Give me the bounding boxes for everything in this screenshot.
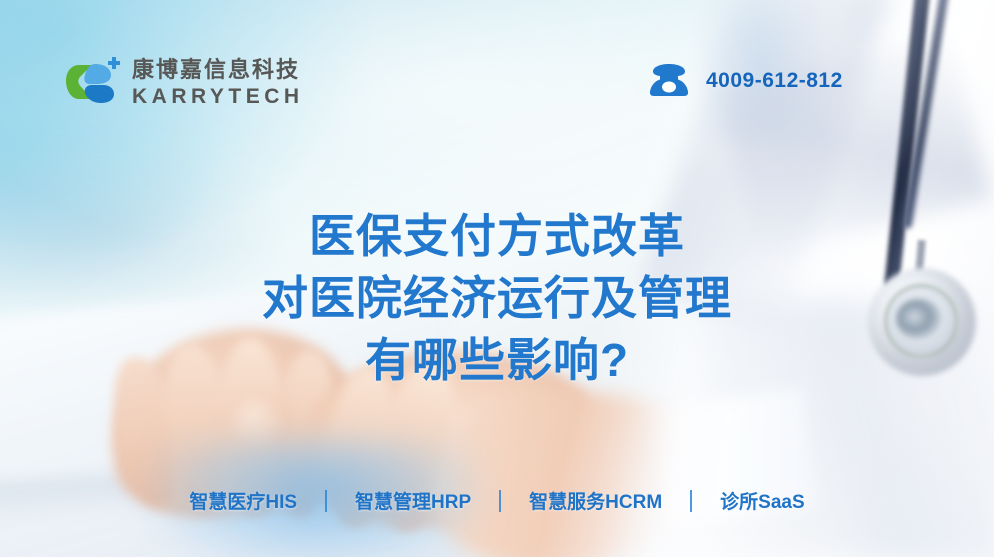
nav-item-hcrm[interactable]: 智慧服务HCRM — [501, 487, 690, 514]
nav-item-his[interactable]: 智慧医疗HIS — [161, 487, 325, 514]
brand-logo[interactable]: 康博嘉信息科技 KARRYTECH — [62, 55, 304, 111]
phone-number: 4009-612-812 — [706, 69, 843, 93]
nav-item-saas[interactable]: 诊所SaaS — [692, 487, 832, 514]
brand-logo-text: 康博嘉信息科技 KARRYTECH — [132, 59, 304, 107]
promo-banner: 康博嘉信息科技 KARRYTECH 4009-612-812 医保支付方式改革 … — [0, 0, 994, 557]
nav-separator — [325, 490, 327, 512]
nav-separator — [690, 490, 692, 512]
telephone-icon — [648, 62, 690, 100]
page-title-line-3: 有哪些影响? — [0, 329, 994, 391]
karrytech-logo-icon — [62, 55, 120, 111]
nav-separator — [499, 490, 501, 512]
page-title: 医保支付方式改革 对医院经济运行及管理 有哪些影响? — [0, 205, 994, 391]
page-title-line-2: 对医院经济运行及管理 — [0, 267, 994, 329]
nav-item-hrp[interactable]: 智慧管理HRP — [327, 487, 499, 514]
brand-name-en: KARRYTECH — [132, 86, 304, 107]
page-title-line-1: 医保支付方式改革 — [0, 205, 994, 267]
contact-phone[interactable]: 4009-612-812 — [648, 62, 843, 100]
footer-nav: 智慧医疗HIS 智慧管理HRP 智慧服务HCRM 诊所SaaS — [0, 487, 994, 514]
brand-name-cn: 康博嘉信息科技 — [132, 59, 304, 81]
